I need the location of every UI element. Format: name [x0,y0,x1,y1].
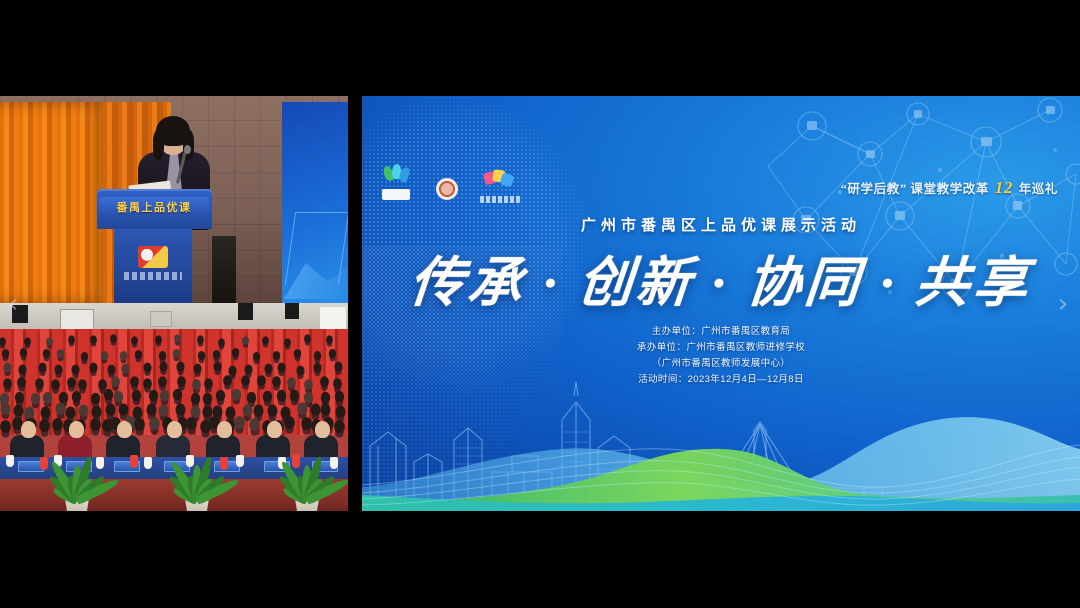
audience-photo [0,303,348,511]
orange-curtain [0,102,108,303]
organizer-line: （广州市番禺区教师发展中心） [362,356,1080,372]
screenshot-root: 番禺上品优课 [0,0,1080,608]
stage-loudspeaker [212,236,236,303]
next-image-button[interactable]: › [1052,284,1074,324]
potted-plants [0,435,348,511]
potted-plant [40,435,114,511]
slide-logos [382,166,514,200]
slogan-middle: 课堂教学改革 [910,182,989,196]
panyu-education-logo [382,166,410,200]
organizer-line: 主办单位：广州市番禺区教育局 [362,324,1080,340]
speaker-hair-left [153,130,164,160]
left-photo-column: 番禺上品优课 [0,96,348,511]
campaign-slogan: “研学后教” 课堂教学改革 12 年巡礼 [841,178,1058,198]
microphone-head [184,145,191,154]
slogan-tail: 年巡礼 [1019,182,1058,196]
podium-sign-text: 番禺上品优课 [117,199,192,215]
organizer-line: 承办单位：广州市番禺区教师进修学校 [362,340,1080,356]
podium-emblem-text [124,272,182,280]
wave-graphics [362,391,1080,511]
projected-slide: “研学后教” 课堂教学改革 12 年巡礼 广州市番禺区上品优课展示活动 传承 ·… [362,96,1080,511]
chevron-left-icon: ‹ [8,291,18,317]
potted-plant [270,435,344,511]
previous-image-button[interactable]: ‹ [2,284,24,324]
hall-speaker-3 [285,303,299,319]
shangpin-youke-logo [484,170,514,200]
letterbox-top [0,0,1080,96]
hall-wall-panel [150,311,172,327]
slide-title: 传承 · 创新 · 协同 · 共享 [362,238,1080,317]
letterbox-bottom [0,511,1080,608]
potted-plant [160,435,234,511]
podium-sign: 番禺上品优课 [99,197,209,216]
speaker-photo: 番禺上品优课 [0,96,348,303]
image-viewer: 番禺上品优课 [0,0,1080,608]
audience-crowd [0,329,348,435]
slide-subtitle: 广州市番禺区上品优课展示活动 [362,214,1080,235]
school-seal-logo [436,178,458,200]
hall-speaker-2 [238,303,253,320]
podium-emblem-icon [138,246,168,268]
chevron-right-icon: › [1058,291,1068,317]
slogan-year-number: 12 [993,178,1015,197]
slogan-quoted: “研学后教” [841,182,907,196]
stage-screen-edge [282,102,348,303]
